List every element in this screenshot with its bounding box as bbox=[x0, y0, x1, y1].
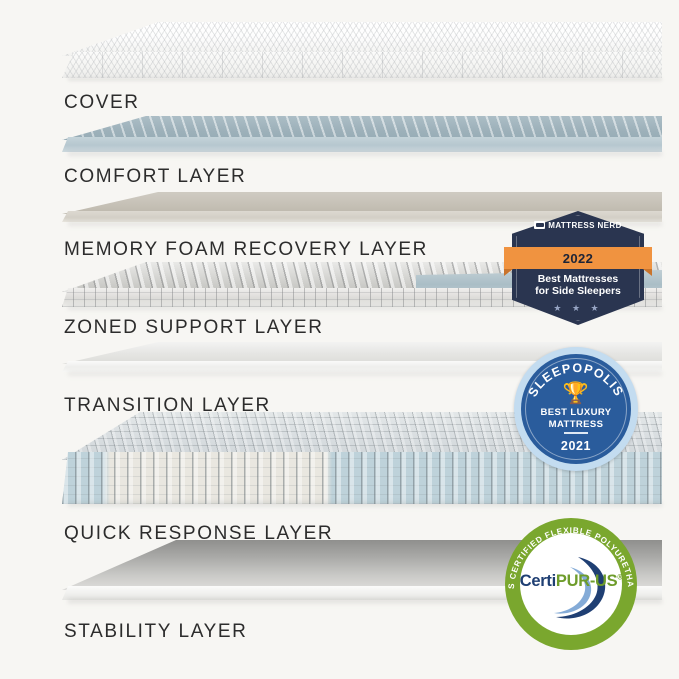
cover-shadow bbox=[68, 78, 662, 82]
badge-year: 2022 bbox=[563, 251, 594, 266]
mattress-nerd-logo: MATTRESS NERD bbox=[504, 221, 652, 230]
comfort-front-face bbox=[62, 137, 662, 152]
certipur-word-part2: PUR-US bbox=[556, 572, 617, 590]
sleepopolis-title-line1: BEST LUXURY bbox=[524, 407, 628, 419]
sleepopolis-award-title: BEST LUXURY MATTRESS bbox=[524, 407, 628, 430]
badge-award-title: Best Mattresses for Side Sleepers bbox=[516, 273, 640, 297]
cover-top-surface bbox=[62, 22, 662, 56]
sleepopolis-year: 2021 bbox=[514, 439, 638, 453]
certipur-word-part1: Certi bbox=[520, 572, 556, 590]
label-comfort-layer: COMFORT LAYER bbox=[64, 166, 246, 188]
mattress-layer-diagram: COVER COMFORT LAYER MEMORY FOAM RECOVERY… bbox=[0, 0, 679, 679]
badge-award-title-line2: for Side Sleepers bbox=[516, 285, 640, 297]
sleepopolis-divider bbox=[564, 432, 588, 434]
layer-comfort bbox=[62, 116, 662, 158]
comfort-top-surface bbox=[62, 116, 662, 140]
cover-front-face bbox=[62, 52, 662, 78]
mattress-nerd-mark-icon bbox=[534, 221, 545, 229]
badge-stars-icon: ★ ★ ★ bbox=[504, 303, 652, 314]
sleepopolis-title-line2: MATTRESS bbox=[524, 419, 628, 431]
badge-award-title-line1: Best Mattresses bbox=[516, 273, 640, 285]
layer-cover bbox=[62, 22, 662, 82]
badge-year-ribbon: 2022 bbox=[504, 247, 652, 269]
comfort-shadow bbox=[68, 152, 662, 157]
certipur-registered-mark: ® bbox=[617, 575, 622, 582]
label-stability-layer: STABILITY LAYER bbox=[64, 621, 247, 643]
mattress-nerd-brand-text: MATTRESS NERD bbox=[548, 221, 622, 230]
label-cover: COVER bbox=[64, 92, 140, 114]
label-zoned-support-layer: ZONED SUPPORT LAYER bbox=[64, 317, 324, 339]
certipur-us-badge: CONTAINS CERTIFIED FLEXIBLE POLYURETHANE… bbox=[505, 518, 637, 650]
label-memory-foam-recovery-layer: MEMORY FOAM RECOVERY LAYER bbox=[64, 239, 428, 261]
coils-shadow bbox=[68, 502, 662, 508]
certipur-wordmark: CertiPUR-US® bbox=[505, 572, 637, 591]
mattress-nerd-badge: MATTRESS NERD 2022 Best Mattresses for S… bbox=[504, 211, 652, 325]
sleepopolis-badge: SLEEPOPOLIS 🏆 BEST LUXURY MATTRESS 2021 bbox=[514, 347, 638, 471]
trophy-icon: 🏆 bbox=[514, 383, 638, 404]
